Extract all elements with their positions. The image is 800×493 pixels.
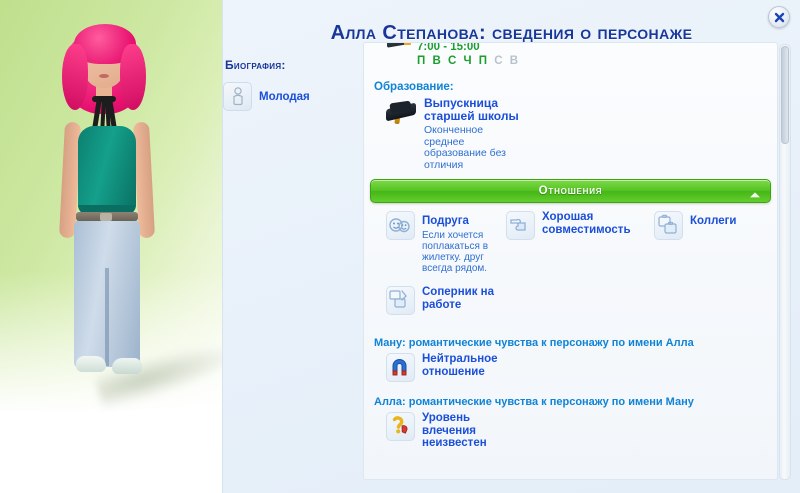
scrollbar-thumb[interactable] [781, 46, 789, 144]
work-schedule-row: 7:00 - 15:00 П В С Ч П С В [364, 43, 777, 81]
character-info-dialog: Алла Степанова: сведения о персонаже Био… [222, 0, 800, 493]
relationship-row: Соперник на работе [386, 286, 777, 315]
biography-label: Биография: [221, 58, 375, 72]
education-heading: Образование: [374, 81, 777, 93]
relations-section-label: Отношения [539, 185, 603, 197]
sim-hair-side-right [120, 44, 146, 110]
romance-heading: Алла: романтические чувства к персонажу … [374, 396, 777, 408]
relationship-title: Подруга [422, 215, 469, 227]
relationship-title: Коллеги [690, 215, 736, 227]
sim-belt-buckle [100, 213, 112, 221]
list-item[interactable]: Хорошая совместимость [506, 211, 654, 274]
vertical-scrollbar[interactable] [779, 44, 791, 480]
work-schedule-icon [387, 42, 411, 51]
chevron-up-icon [749, 186, 761, 204]
biography-trait-label: Молодая [259, 91, 310, 103]
romance-title: Уровень влечения неизвестен [422, 412, 492, 450]
list-item[interactable]: Соперник на работе [386, 286, 500, 315]
romance-item[interactable]: Нейтральное отношение [386, 353, 777, 382]
briefcase-coworkers-icon [654, 211, 683, 240]
romance-heading: Ману: романтические чувства к персонажу … [374, 337, 777, 349]
puzzle-piece-icon [506, 211, 535, 240]
work-hours: 7:00 - 15:00 [417, 42, 480, 53]
sim-preview-pane[interactable] [0, 0, 222, 493]
person-silhouette-icon [223, 82, 252, 111]
work-days-off: С В [494, 55, 520, 67]
list-item[interactable]: Коллеги [654, 211, 736, 274]
graduation-cap-icon [386, 97, 416, 127]
sim-shoe-left [76, 356, 106, 372]
sim-hair-side-left [62, 44, 88, 110]
two-faces-icon [386, 211, 415, 240]
magnet-neutral-icon [386, 353, 415, 382]
list-item[interactable]: Подруга Если хочется поплакаться в жилет… [386, 211, 506, 274]
relationship-description: Если хочется поплакаться в жилетку. друг… [422, 230, 494, 274]
sim-jeans-seam [105, 268, 109, 366]
work-days: П В С Ч П С В [417, 55, 520, 67]
work-days-on: П В С Ч П [417, 55, 489, 67]
magnet-question-icon [386, 412, 415, 441]
romance-title: Нейтральное отношение [422, 353, 508, 378]
info-content-panel: 7:00 - 15:00 П В С Ч П С В Образование: … [363, 42, 778, 480]
education-title: Выпускница старшей школы [424, 97, 544, 123]
sim-mouth [99, 74, 109, 78]
sim-shoe-right [112, 358, 142, 374]
education-item[interactable]: Выпускница старшей школы Оконченное сред… [386, 97, 777, 171]
education-description: Оконченное среднее образование без отлич… [424, 125, 512, 171]
relationship-title: Соперник на работе [422, 286, 500, 311]
biography-trait[interactable]: Молодая [223, 82, 310, 111]
romance-item[interactable]: Уровень влечения неизвестен [386, 412, 777, 450]
relations-section-toggle[interactable]: Отношения [370, 179, 771, 203]
work-rival-icon [386, 286, 415, 315]
sim-top [78, 126, 136, 214]
relationship-title: Хорошая совместимость [542, 211, 638, 236]
relationship-row: Подруга Если хочется поплакаться в жилет… [386, 211, 777, 274]
